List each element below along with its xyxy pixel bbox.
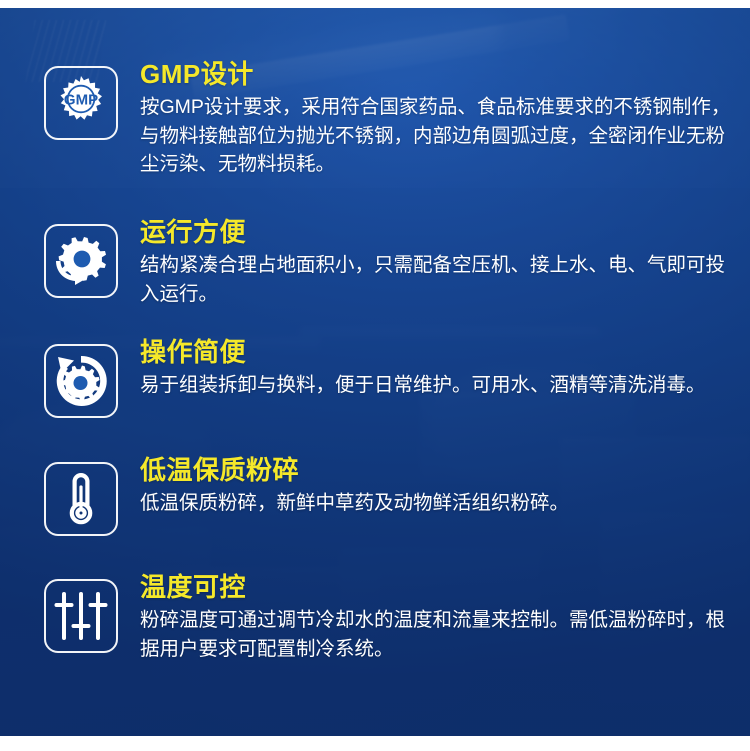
feature-item-gmp: GMP GMP设计 按GMP设计要求，采用符合国家药品、食品标准要求的不锈钢制作… bbox=[44, 60, 734, 179]
feature-item-easy-operation: 运行方便 结构紧凑合理占地面积小，只需配备空压机、接上水、电、气即可投入运行。 bbox=[44, 218, 734, 308]
feature-title: 运行方便 bbox=[140, 218, 734, 247]
feature-title: 操作简便 bbox=[140, 338, 734, 367]
feature-item-temperature-control: 温度可控 粉碎温度可通过调节冷却水的温度和流量来控制。需低温粉碎时，根据用户要求… bbox=[44, 573, 734, 663]
feature-list: GMP GMP设计 按GMP设计要求，采用符合国家药品、食品标准要求的不锈钢制作… bbox=[0, 0, 750, 751]
feature-description: 易于组装拆卸与换料，便于日常维护。可用水、酒精等清洗消毒。 bbox=[140, 371, 734, 400]
slider-controls-icon bbox=[44, 579, 118, 653]
feature-item-low-temp-grinding: 低温保质粉碎 低温保质粉碎，新鲜中草药及动物鲜活组织粉碎。 bbox=[44, 456, 734, 536]
gmp-gear-badge-icon: GMP bbox=[44, 66, 118, 140]
thermometer-icon bbox=[44, 462, 118, 536]
gear-with-arrow-icon bbox=[44, 224, 118, 298]
feature-highlight-banner: GMP GMP设计 按GMP设计要求，采用符合国家药品、食品标准要求的不锈钢制作… bbox=[0, 0, 750, 751]
feature-description: 按GMP设计要求，采用符合国家药品、食品标准要求的不锈钢制作，与物料接触部位为抛… bbox=[140, 93, 734, 179]
feature-item-simple-maintenance: 操作简便 易于组装拆卸与换料，便于日常维护。可用水、酒精等清洗消毒。 bbox=[44, 338, 734, 418]
feature-title: 低温保质粉碎 bbox=[140, 456, 734, 485]
feature-description: 低温保质粉碎，新鲜中草药及动物鲜活组织粉碎。 bbox=[140, 489, 734, 518]
feature-title: GMP设计 bbox=[140, 60, 734, 89]
feature-description: 结构紧凑合理占地面积小，只需配备空压机、接上水、电、气即可投入运行。 bbox=[140, 251, 734, 308]
feature-title: 温度可控 bbox=[140, 573, 734, 602]
feature-description: 粉碎温度可通过调节冷却水的温度和流量来控制。需低温粉碎时，根据用户要求可配置制冷… bbox=[140, 606, 734, 663]
gear-in-circular-arrow-icon bbox=[44, 344, 118, 418]
svg-text:GMP: GMP bbox=[64, 92, 98, 109]
